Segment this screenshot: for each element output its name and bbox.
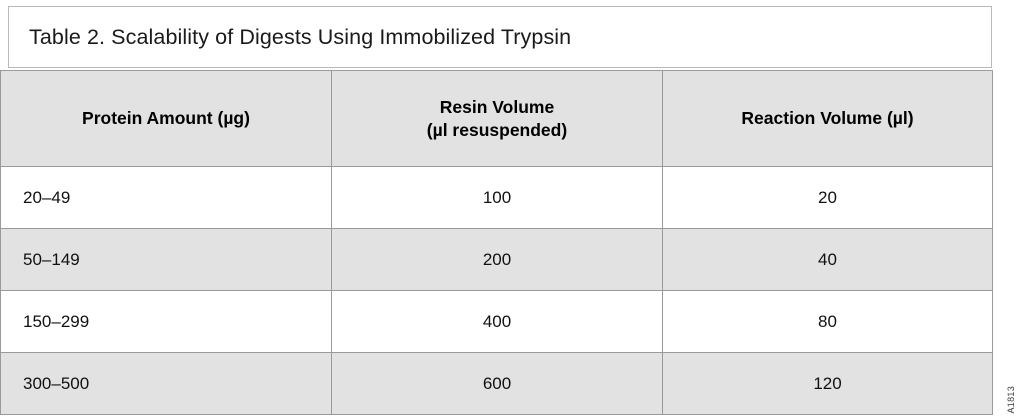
figure-side-code-text: A1813 xyxy=(1006,386,1016,414)
cell-resin-volume: 600 xyxy=(332,353,663,415)
table-header: Protein Amount (µg) Resin Volume (µl res… xyxy=(1,71,993,167)
cell-protein-amount: 150–299 xyxy=(1,291,332,353)
table-header-row: Protein Amount (µg) Resin Volume (µl res… xyxy=(1,71,993,167)
cell-protein-amount: 20–49 xyxy=(1,167,332,229)
table-title-band: Table 2. Scalability of Digests Using Im… xyxy=(8,6,992,68)
column-header-resin-volume-line1: Resin Volume xyxy=(440,97,554,117)
cell-resin-volume: 400 xyxy=(332,291,663,353)
column-header-reaction-volume: Reaction Volume (µl) xyxy=(663,71,993,167)
column-header-protein-amount: Protein Amount (µg) xyxy=(1,71,332,167)
cell-reaction-volume: 80 xyxy=(663,291,993,353)
column-header-resin-volume-line2: (µl resuspended) xyxy=(427,120,567,140)
table-body: 20–49 100 20 50–149 200 40 150–299 400 8… xyxy=(1,167,993,415)
table-title: Table 2. Scalability of Digests Using Im… xyxy=(9,25,571,50)
cell-reaction-volume: 40 xyxy=(663,229,993,291)
scalability-table: Protein Amount (µg) Resin Volume (µl res… xyxy=(0,70,993,415)
table-row: 300–500 600 120 xyxy=(1,353,993,415)
cell-protein-amount: 50–149 xyxy=(1,229,332,291)
cell-reaction-volume: 120 xyxy=(663,353,993,415)
cell-protein-amount: 300–500 xyxy=(1,353,332,415)
cell-reaction-volume: 20 xyxy=(663,167,993,229)
figure-side-code: A1813 xyxy=(1003,354,1019,414)
table-row: 50–149 200 40 xyxy=(1,229,993,291)
cell-resin-volume: 100 xyxy=(332,167,663,229)
table-figure: Table 2. Scalability of Digests Using Im… xyxy=(0,0,1020,420)
cell-resin-volume: 200 xyxy=(332,229,663,291)
table-row: 150–299 400 80 xyxy=(1,291,993,353)
table-row: 20–49 100 20 xyxy=(1,167,993,229)
column-header-resin-volume: Resin Volume (µl resuspended) xyxy=(332,71,663,167)
